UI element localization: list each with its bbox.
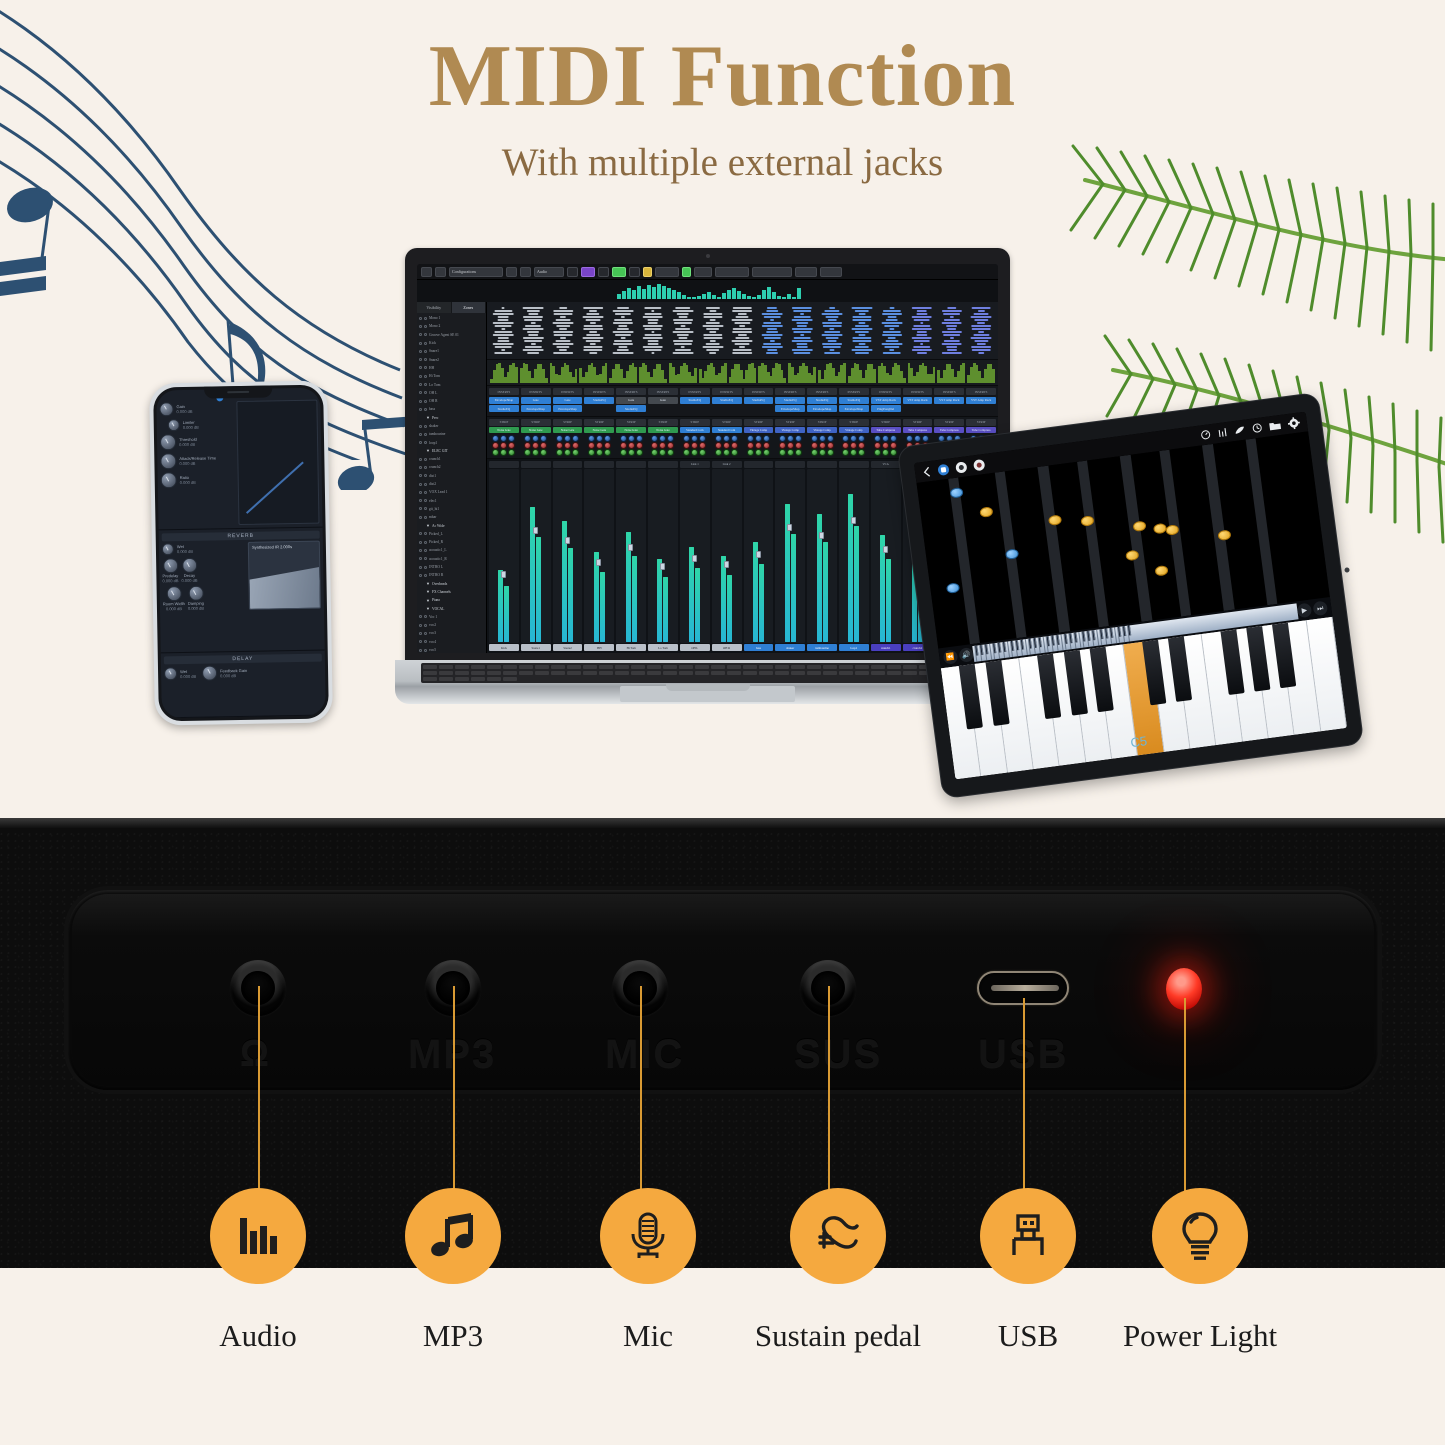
keyboard-key[interactable] [647, 665, 661, 669]
daw-insert-slot[interactable]: EnvelopeShap [775, 405, 805, 412]
daw-inserts-row-2[interactable]: StudioEQEnvelopeShapEnvelopeShapStudioEQ… [489, 405, 996, 412]
daw-camera-button[interactable] [506, 267, 517, 277]
metronome-icon[interactable] [1200, 429, 1211, 440]
keyboard-key[interactable] [759, 665, 773, 669]
daw-track-row[interactable]: HH [417, 364, 486, 372]
daw-knob[interactable] [588, 435, 595, 442]
daw-knob[interactable] [564, 442, 571, 449]
knob-predelay[interactable]: Predelay 0.000 dB [162, 558, 178, 583]
daw-envelope[interactable] [550, 362, 578, 383]
daw-fader-handle[interactable] [533, 527, 538, 534]
daw-knob[interactable] [564, 449, 571, 456]
daw-fader-handle[interactable] [851, 517, 856, 524]
daw-knob[interactable] [508, 442, 515, 449]
daw-tempo-field[interactable] [655, 267, 679, 277]
falling-note[interactable] [980, 507, 994, 519]
keyboard-key[interactable] [807, 665, 821, 669]
daw-knob[interactable] [842, 435, 849, 442]
daw-waveform[interactable] [669, 306, 696, 356]
daw-knob[interactable] [850, 442, 857, 449]
daw-knob[interactable] [667, 449, 674, 456]
daw-mixer-strip[interactable]: Snare1 [521, 461, 551, 652]
daw-warn-indicator[interactable] [643, 267, 652, 277]
daw-knob[interactable] [604, 435, 611, 442]
daw-knob[interactable] [882, 435, 889, 442]
daw-knob[interactable] [636, 449, 643, 456]
keyboard-key[interactable] [423, 665, 437, 669]
daw-knob[interactable] [795, 442, 802, 449]
daw-knob[interactable] [779, 435, 786, 442]
daw-track-row[interactable]: ▼VOCAL [417, 604, 486, 612]
daw-knob[interactable] [572, 435, 579, 442]
daw-envelope[interactable] [609, 362, 637, 383]
daw-track-row[interactable]: dist1 [417, 472, 486, 480]
badge-sustain-pedal[interactable]: Sustain pedal [748, 1188, 928, 1354]
fast-forward-button[interactable]: ⏭ [1312, 600, 1328, 616]
daw-insert-slot[interactable] [744, 405, 774, 412]
daw-knob[interactable] [858, 449, 865, 456]
daw-track-row[interactable]: Groove Agent SE 01 [417, 331, 486, 339]
daw-track-row[interactable]: ▼FX Channels [417, 588, 486, 596]
keyboard-key[interactable] [791, 671, 805, 675]
daw-knob[interactable] [564, 435, 571, 442]
daw-mixer-strip[interactable]: HH [584, 461, 614, 652]
daw-track-row[interactable]: Lo Tom [417, 380, 486, 388]
daw-knob[interactable] [651, 442, 658, 449]
daw-channel-strip[interactable]: Standard Com [712, 427, 742, 456]
daw-track-row[interactable]: ▼Perc [417, 414, 486, 422]
daw-sync-indicator[interactable] [682, 267, 691, 277]
keyboard-key[interactable] [711, 665, 725, 669]
keyboard-key[interactable] [471, 671, 485, 675]
daw-insert-slot[interactable]: Gate [553, 397, 583, 404]
daw-fader-area[interactable] [744, 469, 774, 644]
daw-mixer-strip[interactable]: shaker [775, 461, 805, 652]
daw-track-row[interactable]: ▼Piano [417, 596, 486, 604]
daw-knob[interactable] [914, 435, 921, 442]
daw-insert-slot[interactable]: StudioEQ [489, 405, 519, 412]
daw-link-button[interactable] [820, 267, 842, 277]
daw-knob[interactable] [492, 449, 499, 456]
knob-limiter[interactable]: Limiter 0.000 dB [160, 418, 233, 431]
falling-note[interactable] [1133, 520, 1147, 532]
daw-track-row[interactable]: Snare1 [417, 347, 486, 355]
daw-track-row[interactable]: Voc 1 [417, 613, 486, 621]
daw-knob[interactable] [596, 442, 603, 449]
daw-insert-slot[interactable]: StudioEQ [744, 397, 774, 404]
laptop-trackpad[interactable] [620, 686, 795, 702]
daw-track-row[interactable]: mbar [417, 513, 486, 521]
daw-track-row[interactable]: Picked_R [417, 538, 486, 546]
daw-fader-area[interactable] [553, 469, 583, 644]
daw-knob[interactable] [659, 435, 666, 442]
daw-knob[interactable] [683, 435, 690, 442]
daw-knob[interactable] [667, 442, 674, 449]
daw-knob[interactable] [763, 435, 770, 442]
keyboard-key[interactable] [567, 671, 581, 675]
tab-zones[interactable]: Zones [452, 302, 487, 313]
daw-knob[interactable] [731, 435, 738, 442]
daw-insert-slot[interactable]: Gate [616, 397, 646, 404]
daw-waveform[interactable] [789, 306, 816, 356]
daw-knob[interactable] [747, 449, 754, 456]
daw-insert-slot[interactable] [680, 405, 710, 412]
daw-track-row[interactable]: Hi Tom [417, 372, 486, 380]
daw-knob[interactable] [620, 449, 627, 456]
keyboard-key[interactable] [695, 671, 709, 675]
record-icon[interactable] [973, 458, 985, 470]
folder-icon[interactable] [1268, 420, 1281, 431]
daw-knob[interactable] [604, 449, 611, 456]
daw-knob[interactable] [842, 442, 849, 449]
keyboard-key[interactable] [535, 671, 549, 675]
daw-track-row[interactable]: crunch2 [417, 463, 486, 471]
daw-fader-area[interactable] [489, 469, 519, 644]
keyboard-key[interactable] [903, 671, 917, 675]
keyboard-key[interactable] [519, 665, 533, 669]
daw-knob[interactable] [723, 449, 730, 456]
keyboard-key[interactable] [887, 665, 901, 669]
daw-envelope[interactable] [878, 362, 906, 383]
daw-waveform[interactable] [639, 306, 666, 356]
daw-knob[interactable] [628, 435, 635, 442]
daw-knob[interactable] [699, 442, 706, 449]
keyboard-key[interactable] [423, 671, 437, 675]
keyboard-key[interactable] [871, 671, 885, 675]
daw-track-row[interactable]: INTRO R [417, 571, 486, 579]
daw-mixer-strip[interactable]: Lo Tom [648, 461, 678, 652]
daw-knob[interactable] [779, 442, 786, 449]
daw-knob[interactable] [850, 435, 857, 442]
daw-knob[interactable] [683, 442, 690, 449]
daw-waveform[interactable] [520, 306, 547, 356]
keyboard-key[interactable] [487, 665, 501, 669]
daw-knob[interactable] [524, 442, 531, 449]
keyboard-key[interactable] [455, 677, 469, 681]
keyboard-key[interactable] [663, 665, 677, 669]
daw-knob[interactable] [500, 442, 507, 449]
daw-knob[interactable] [715, 435, 722, 442]
keyboard-key[interactable] [791, 665, 805, 669]
daw-track-row[interactable]: Kick [417, 339, 486, 347]
daw-knob[interactable] [540, 435, 547, 442]
daw-knob[interactable] [715, 449, 722, 456]
daw-track-row[interactable]: tambourine [417, 430, 486, 438]
daw-knob[interactable] [628, 449, 635, 456]
daw-audio-dropdown[interactable]: Audio [534, 267, 564, 277]
daw-insert-slot[interactable] [584, 405, 614, 412]
daw-knob[interactable] [532, 435, 539, 442]
daw-knob[interactable] [827, 449, 834, 456]
daw-insert-slot[interactable]: StudioEQ [807, 397, 837, 404]
daw-knob[interactable] [811, 435, 818, 442]
daw-knob[interactable] [492, 442, 499, 449]
badge-mp3[interactable]: MP3 [363, 1188, 543, 1354]
daw-fader-area[interactable] [712, 469, 742, 644]
keyboard-key[interactable] [567, 665, 581, 669]
daw-channel-strip[interactable]: Noise Gate [616, 427, 646, 456]
daw-insert-slot[interactable]: EnvelopeShap [521, 405, 551, 412]
keyboard-key[interactable] [503, 677, 517, 681]
daw-knob[interactable] [747, 442, 754, 449]
daw-knob[interactable] [620, 442, 627, 449]
daw-knob[interactable] [827, 435, 834, 442]
daw-knob[interactable] [636, 442, 643, 449]
keyboard-key[interactable] [711, 671, 725, 675]
daw-fader-area[interactable] [616, 469, 646, 644]
daw-knob[interactable] [755, 449, 762, 456]
daw-track-row[interactable]: Mono 1 [417, 314, 486, 322]
daw-insert-slot[interactable] [934, 405, 964, 412]
daw-waveform[interactable] [938, 306, 965, 356]
keyboard-key[interactable] [679, 665, 693, 669]
daw-knob[interactable] [755, 435, 762, 442]
daw-knob[interactable] [787, 442, 794, 449]
keyboard-key[interactable] [583, 671, 597, 675]
laptop-keyboard[interactable] [421, 663, 993, 683]
badge-power-light[interactable]: Power Light [1110, 1188, 1290, 1354]
daw-knob[interactable] [532, 442, 539, 449]
keyboard-key[interactable] [903, 665, 917, 669]
daw-knob[interactable] [787, 435, 794, 442]
daw-knob[interactable] [524, 449, 531, 456]
daw-knob[interactable] [667, 435, 674, 442]
daw-waveform[interactable] [819, 306, 846, 356]
daw-knob[interactable] [596, 435, 603, 442]
keyboard-key[interactable] [871, 665, 885, 669]
daw-envelope[interactable] [788, 362, 816, 383]
daw-channel-strip[interactable]: Vintage Comp [839, 427, 869, 456]
daw-fader-handle[interactable] [596, 559, 601, 566]
daw-envelope[interactable] [937, 362, 965, 383]
badge-usb[interactable]: USB [938, 1188, 1118, 1354]
daw-stop-button[interactable] [598, 267, 609, 277]
daw-envelope[interactable] [848, 362, 876, 383]
keyboard-key[interactable] [519, 671, 533, 675]
keyboard-key[interactable] [775, 665, 789, 669]
falling-note[interactable] [1048, 514, 1062, 526]
daw-track-row[interactable]: INTRO L [417, 563, 486, 571]
falling-note[interactable] [946, 582, 960, 594]
daw-knob[interactable] [850, 449, 857, 456]
keyboard-key[interactable] [551, 671, 565, 675]
daw-knob[interactable] [572, 449, 579, 456]
daw-knob[interactable] [556, 442, 563, 449]
keyboard-key[interactable] [727, 671, 741, 675]
daw-track-row[interactable]: git_hi1 [417, 505, 486, 513]
daw-knob[interactable] [699, 435, 706, 442]
keyboard-key[interactable] [615, 671, 629, 675]
daw-track-row[interactable]: acoustic1_R [417, 555, 486, 563]
keyboard-key[interactable] [855, 671, 869, 675]
daw-insert-slot[interactable] [712, 405, 742, 412]
knob-room-width[interactable]: Room Width 0.000 dB [163, 586, 185, 611]
daw-knob[interactable] [500, 449, 507, 456]
daw-knob[interactable] [747, 435, 754, 442]
daw-knob[interactable] [723, 442, 730, 449]
daw-channel-strip[interactable]: Vintage Comp [807, 427, 837, 456]
knob-feedback-gain[interactable]: Feedback Gain 0.000 dB [202, 665, 247, 681]
daw-knob[interactable] [787, 449, 794, 456]
daw-envelope[interactable] [729, 362, 757, 383]
daw-fader-handle[interactable] [787, 524, 792, 531]
daw-track-row[interactable]: bass [417, 405, 486, 413]
daw-fader-handle[interactable] [628, 544, 633, 551]
keyboard-key[interactable] [887, 671, 901, 675]
daw-knob[interactable] [604, 442, 611, 449]
daw-fader-handle[interactable] [501, 571, 506, 578]
daw-fader-handle[interactable] [819, 532, 824, 539]
daw-knob[interactable] [858, 442, 865, 449]
daw-insert-slot[interactable]: EnvelopeShap [553, 405, 583, 412]
daw-knob[interactable] [874, 449, 881, 456]
daw-knob[interactable] [532, 449, 539, 456]
daw-knob[interactable] [659, 449, 666, 456]
daw-insert-slot[interactable]: VST Amp Rack [966, 397, 996, 404]
daw-vca-field[interactable] [752, 267, 792, 277]
daw-knob[interactable] [858, 435, 865, 442]
keyboard-key[interactable] [631, 665, 645, 669]
daw-waveform[interactable] [550, 306, 577, 356]
daw-waveform[interactable] [759, 306, 786, 356]
keyboard-key[interactable] [823, 671, 837, 675]
daw-envelope[interactable] [520, 362, 548, 383]
keyboard-key[interactable] [535, 665, 549, 669]
daw-knob[interactable] [628, 442, 635, 449]
daw-track-row[interactable]: Mono 2 [417, 322, 486, 330]
daw-knob[interactable] [508, 435, 515, 442]
keyboard-key[interactable] [823, 665, 837, 669]
keyboard-key[interactable] [423, 677, 437, 681]
daw-insert-slot[interactable] [966, 405, 996, 412]
keyboard-key[interactable] [663, 671, 677, 675]
daw-waveform[interactable] [699, 306, 726, 356]
keyboard-key[interactable] [471, 665, 485, 669]
keyboard-key[interactable] [679, 671, 693, 675]
knob-attack-release[interactable]: Attack/Release Time 0.000 dB [160, 452, 233, 469]
daw-knob[interactable] [540, 449, 547, 456]
daw-insert-slot[interactable]: PingPongDel [871, 405, 901, 412]
daw-fader-area[interactable] [871, 469, 901, 644]
daw-track-list[interactable]: Mono 1Mono 2Groove Agent SE 01KickSnare1… [417, 313, 486, 653]
square-blue-icon[interactable] [937, 463, 949, 475]
daw-prev-button[interactable] [567, 267, 578, 277]
daw-waveform[interactable] [968, 306, 995, 356]
daw-envelope[interactable] [579, 362, 607, 383]
daw-track-row[interactable]: acoustic1_L [417, 546, 486, 554]
knob-damping[interactable]: Damping 0.000 dB [188, 586, 204, 611]
daw-knob[interactable] [699, 449, 706, 456]
daw-track-row[interactable]: OH R [417, 397, 486, 405]
keyboard-key[interactable] [439, 665, 453, 669]
keyboard-key[interactable] [583, 665, 597, 669]
daw-envelope[interactable] [758, 362, 786, 383]
daw-knob[interactable] [842, 449, 849, 456]
daw-fader-handle[interactable] [565, 537, 570, 544]
daw-mixer-strip[interactable]: bass [744, 461, 774, 652]
daw-mixer-strip[interactable]: Kick [489, 461, 519, 652]
daw-channel-strip[interactable]: Noise Gate [489, 427, 519, 456]
daw-inserts-row-1[interactable]: EnvelopeShapGateGateStudioEQGateGateStud… [489, 397, 996, 404]
daw-track-row[interactable]: Snare2 [417, 355, 486, 363]
daw-channel-strip[interactable]: Vintage Comp [775, 427, 805, 456]
daw-insert-slot[interactable]: StudioEQ [680, 397, 710, 404]
daw-track-row[interactable]: voc2 [417, 621, 486, 629]
keyboard-key[interactable] [647, 671, 661, 675]
daw-insert-slot[interactable]: Gate [648, 397, 678, 404]
keyboard-key[interactable] [839, 665, 853, 669]
daw-configurations-dropdown[interactable]: Configurations [449, 267, 503, 277]
tempo-icon[interactable] [1252, 422, 1263, 433]
daw-channel-strip[interactable]: Tube Compress [871, 427, 901, 456]
daw-knob[interactable] [508, 449, 515, 456]
daw-knob[interactable] [556, 435, 563, 442]
daw-knob[interactable] [731, 449, 738, 456]
daw-knob[interactable] [723, 435, 730, 442]
keyboard-key[interactable] [455, 671, 469, 675]
daw-mixer-strip[interactable]: Link 2OH R [712, 461, 742, 652]
daw-search-button[interactable] [435, 267, 446, 277]
daw-knob[interactable] [659, 442, 666, 449]
daw-insert-slot[interactable]: StudioEQ [584, 397, 614, 404]
daw-insert-slot[interactable] [903, 405, 933, 412]
daw-knob[interactable] [795, 435, 802, 442]
daw-knob[interactable] [819, 435, 826, 442]
daw-knob[interactable] [540, 442, 547, 449]
daw-channel-strip[interactable]: Noise Gate [521, 427, 551, 456]
daw-mixer-strip[interactable]: loop1 [839, 461, 869, 652]
daw-fader-handle[interactable] [883, 546, 888, 553]
daw-knob[interactable] [819, 442, 826, 449]
daw-track-row[interactable]: voc5 [417, 646, 486, 653]
daw-waveform[interactable] [580, 306, 607, 356]
play-button[interactable]: ▶ [1297, 603, 1313, 619]
keyboard-key[interactable] [599, 665, 613, 669]
knob-threshold[interactable]: Threshold 0.000 dB [160, 433, 233, 450]
daw-fader-handle[interactable] [724, 561, 729, 568]
daw-insert-slot[interactable]: VST Amp Rack [871, 397, 901, 404]
keyboard-key[interactable] [551, 665, 565, 669]
keyboard-key[interactable] [743, 665, 757, 669]
daw-envelope-lanes[interactable] [487, 360, 998, 386]
daw-mixer-strip[interactable]: Snare2 [553, 461, 583, 652]
daw-knob[interactable] [715, 442, 722, 449]
daw-insert-slot[interactable]: StudioEQ [616, 405, 646, 412]
daw-track-row[interactable]: ▼Ac Wide [417, 521, 486, 529]
daw-knob[interactable] [636, 435, 643, 442]
daw-knob[interactable] [596, 449, 603, 456]
mixer-icon[interactable] [1217, 427, 1228, 438]
daw-track-row[interactable]: crunch1 [417, 455, 486, 463]
daw-play-button[interactable] [612, 267, 626, 277]
knob-ratio[interactable]: Ratio 0.000 dB [161, 471, 234, 488]
daw-fader-area[interactable] [807, 469, 837, 644]
daw-insert-slot[interactable] [648, 405, 678, 412]
daw-knob[interactable] [651, 435, 658, 442]
daw-fader-area[interactable] [839, 469, 869, 644]
daw-knob[interactable] [572, 442, 579, 449]
daw-knob[interactable] [882, 449, 889, 456]
knob-decay[interactable]: Decay 0.000 dB [181, 558, 197, 583]
daw-knob[interactable] [500, 435, 507, 442]
daw-knob[interactable] [588, 449, 595, 456]
keyboard-key[interactable] [439, 677, 453, 681]
keyboard-key[interactable] [775, 671, 789, 675]
daw-mixer-strip[interactable]: VCAcrunch1 [871, 461, 901, 652]
daw-knob[interactable] [827, 442, 834, 449]
daw-mixer-strip[interactable]: tambourine [807, 461, 837, 652]
daw-insert-slot[interactable]: StudioEQ [775, 397, 805, 404]
